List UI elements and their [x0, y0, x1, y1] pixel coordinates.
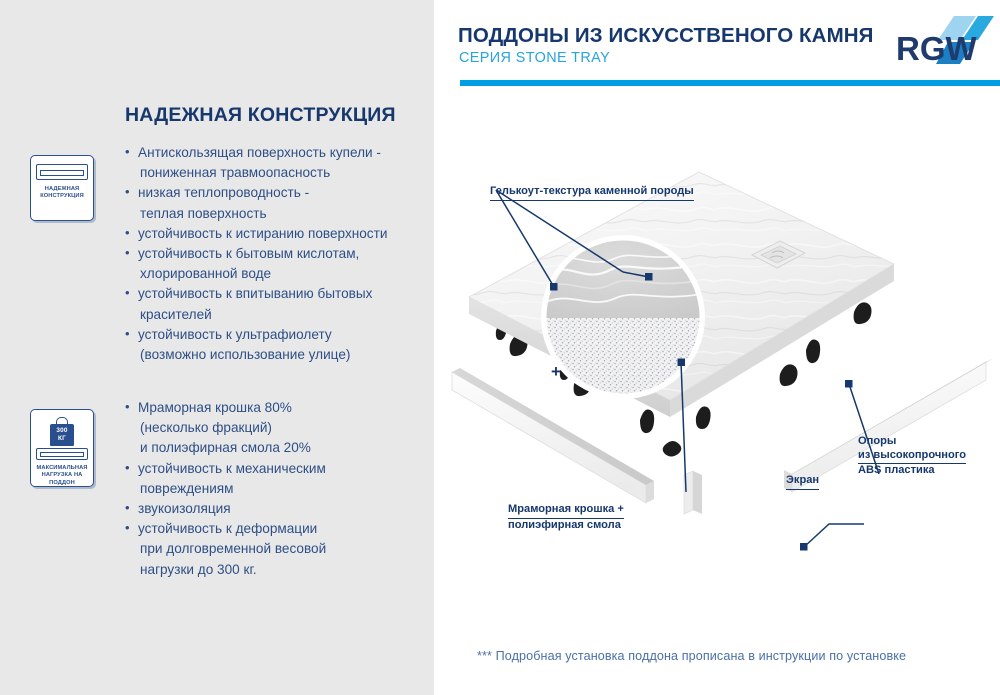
list-item: низкая теплопроводность - теплая поверхн… — [125, 183, 425, 223]
weight-on-tray-icon: 300 КГ — [34, 417, 90, 460]
page-title: НАДЕЖНАЯ КОНСТРУКЦИЯ — [125, 104, 396, 127]
magnifier-plus-sign: + — [551, 362, 561, 381]
poster-root: НАДЕЖНАЯ КОНСТРУКЦИЯ НАДЕЖНАЯ КОНСТРУКЦИ… — [0, 0, 1000, 695]
list-item-line: (несколько фракций) — [138, 418, 425, 438]
header-subtitle: СЕРИЯ STONE TRAY — [459, 50, 610, 66]
callout-support-line2: из высокопрочного — [858, 449, 966, 465]
list-item: устойчивость к впитыванию бытовыхкрасите… — [125, 284, 425, 324]
feature-list-construction: Антискользящая поверхность купели -пониж… — [125, 143, 425, 365]
list-item: устойчивость к бытовым кислотам,хлориров… — [125, 244, 425, 284]
list-item-line: (возможно использование улице) — [138, 345, 425, 365]
logo-text: RGW — [896, 30, 978, 67]
list-item-line: низкая теплопроводность - — [138, 185, 309, 200]
callout-support-line1: Опоры — [858, 435, 896, 447]
screen-corner-piece — [684, 471, 702, 514]
left-info-panel: НАДЕЖНАЯ КОНСТРУКЦИЯ НАДЕЖНАЯ КОНСТРУКЦИ… — [0, 0, 434, 695]
list-item-line: звукоизоляция — [138, 501, 231, 516]
callout-marble-line2: полиэфирная смола — [508, 519, 621, 531]
badge-caption-line2: КОНСТРУКЦИЯ — [34, 193, 90, 200]
list-item-line: устойчивость к бытовым кислотам, — [138, 246, 359, 261]
list-item-line: и полиэфирная смола 20% — [138, 438, 425, 458]
badge-caption-line2: НАГРУЗКА НА ПОДДОН — [34, 472, 90, 487]
product-exploded-diagram: + — [434, 92, 1000, 562]
list-item: Антискользящая поверхность купели -пониж… — [125, 143, 425, 183]
list-item-line: устойчивость к истиранию поверхности — [138, 226, 387, 241]
list-item-line: устойчивость к деформации — [138, 521, 317, 536]
header-divider — [460, 80, 1000, 86]
badge-caption-construction: НАДЕЖНАЯ КОНСТРУКЦИЯ — [34, 186, 90, 201]
list-item-line: устойчивость к механическим — [138, 461, 326, 476]
badge-caption-line1: НАДЕЖНАЯ — [45, 186, 80, 192]
list-item: устойчивость к деформациипри долговремен… — [125, 519, 425, 580]
material-magnifier: + — [541, 235, 705, 400]
list-item-line: Мраморная крошка 80% — [138, 400, 292, 415]
footer-note: *** Подробная установка поддона прописан… — [477, 649, 906, 663]
badge-max-load: 300 КГ МАКСИМАЛЬНАЯ НАГРУЗКА НА ПОДДОН — [30, 409, 94, 487]
badge-caption-load: МАКСИМАЛЬНАЯ НАГРУЗКА НА ПОДДОН — [34, 465, 90, 487]
list-item-line: пониженная травмоопасность — [138, 163, 425, 183]
header-title: ПОДДОНЫ ИЗ ИСКУССТВЕНОГО КАМНЯ — [458, 24, 874, 48]
list-item-line: теплая поверхность — [138, 204, 425, 224]
list-item: Мраморная крошка 80%(несколько фракций) … — [125, 398, 425, 459]
list-item-line: устойчивость к впитыванию бытовых — [138, 286, 372, 301]
rgw-logo: RGW — [890, 14, 994, 70]
callout-screen: Экран — [786, 474, 819, 490]
badge-reliable-construction: НАДЕЖНАЯ КОНСТРУКЦИЯ — [30, 155, 94, 221]
callout-abs-supports: Опоры из высокопрочного ABS пластика — [858, 435, 966, 478]
callout-gelcoat: Гелькоут-текстура каменной породы — [490, 185, 694, 201]
callout-marble-line1: Мраморная крошка + — [508, 503, 624, 519]
list-item: устойчивость к механическимповреждениям — [125, 459, 425, 499]
list-item: устойчивость к ультрафиолету(возможно ис… — [125, 325, 425, 365]
tray-icon — [34, 164, 90, 180]
badge-caption-line1: МАКСИМАЛЬНАЯ — [37, 465, 88, 471]
list-item-line: устойчивость к ультрафиолету — [138, 327, 332, 342]
feature-list-composition: Мраморная крошка 80%(несколько фракций) … — [125, 398, 425, 580]
list-item-line: повреждениям — [138, 479, 425, 499]
list-item-line: красителей — [138, 305, 425, 325]
list-item-line: Антискользящая поверхность купели - — [138, 145, 381, 160]
list-item-line: при долговременной весовой — [138, 539, 425, 559]
callout-marble-resin: Мраморная крошка + полиэфирная смола — [508, 503, 624, 532]
weight-unit: КГ — [58, 435, 66, 442]
list-item: звукоизоляция — [125, 499, 425, 519]
list-item-line: нагрузки до 300 кг. — [138, 560, 425, 580]
callout-support-line3: ABS пластика — [858, 464, 935, 476]
list-item-line: хлорированной воде — [138, 264, 425, 284]
list-item: устойчивость к истиранию поверхности — [125, 224, 425, 244]
weight-value: 300 — [56, 427, 67, 434]
